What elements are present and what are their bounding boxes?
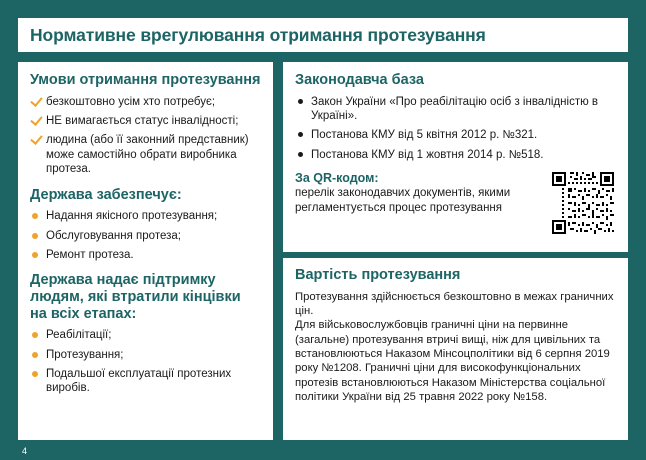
list-item: Обслуговування протеза; (30, 229, 261, 243)
page-title: Нормативне врегулювання отримання протез… (30, 25, 486, 46)
legal-panel-heading: Законодавча база (295, 72, 616, 89)
slide-title-bar: Нормативне врегулювання отримання протез… (18, 18, 628, 52)
cost-panel-heading: Вартість протезування (295, 267, 616, 284)
list-item: Протезування; (30, 348, 261, 362)
left-panel-heading: Умови отримання протезування (30, 72, 261, 89)
left-panel: Умови отримання протезування безкоштовно… (18, 62, 273, 440)
list-item: Ремонт протеза. (30, 248, 261, 262)
qr-description: перелік законодавчих документів, якими р… (295, 186, 542, 216)
list-item: Закон України «Про реабілітацію осіб з і… (295, 95, 616, 124)
page-number: 4 (22, 446, 27, 456)
list-item: людина (або її законний представник) мож… (30, 133, 261, 176)
qr-code-icon[interactable] (550, 170, 616, 236)
slide-root: Нормативне врегулювання отримання протез… (0, 0, 646, 460)
state-support-list: Реабілітації; Протезування; Подальшої ек… (30, 328, 261, 396)
legal-panel: Законодавча база Закон України «Про реаб… (283, 62, 628, 252)
cost-paragraph: Для військовослужбовців граничні ціни на… (295, 318, 616, 404)
state-support-heading: Держава надає підтримку людям, які втрат… (30, 272, 261, 322)
list-item: Постанова КМУ від 1 жовтня 2014 р. №518. (295, 148, 616, 162)
legal-list: Закон України «Про реабілітацію осіб з і… (295, 95, 616, 163)
qr-row: перелік законодавчих документів, якими р… (295, 186, 616, 236)
cost-paragraph: Протезування здійснюється безкоштовно в … (295, 290, 616, 319)
list-item: Надання якісного протезування; (30, 209, 261, 223)
list-item: Постанова КМУ від 5 квітня 2012 р. №321. (295, 128, 616, 142)
list-item: Подальшої експлуатації протезних виробів… (30, 367, 261, 396)
list-item: Реабілітації; (30, 328, 261, 342)
cost-panel: Вартість протезування Протезування здійс… (283, 258, 628, 440)
conditions-list: безкоштовно усім хто потребує; НЕ вимага… (30, 95, 261, 177)
state-guarantee-list: Надання якісного протезування; Обслугову… (30, 209, 261, 262)
state-guarantee-heading: Держава забезпечує: (30, 187, 261, 204)
list-item: НЕ вимагається статус інвалідності; (30, 114, 261, 128)
list-item: безкоштовно усім хто потребує; (30, 95, 261, 109)
